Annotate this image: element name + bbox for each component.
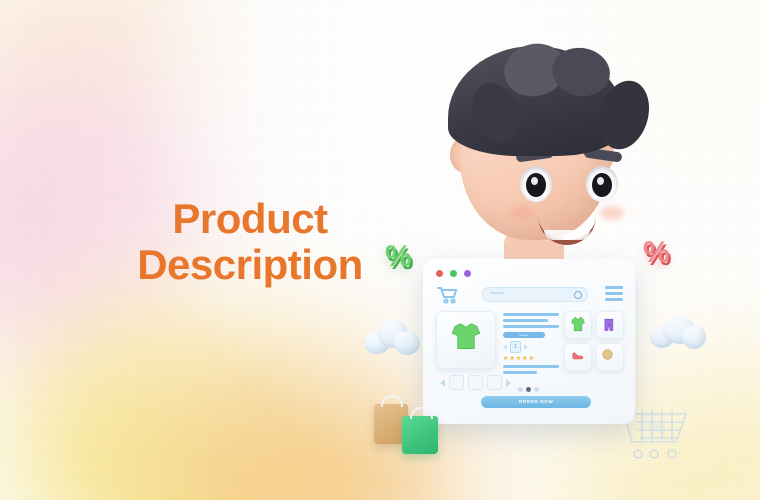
hamburger-menu-icon[interactable]	[605, 286, 623, 304]
star-icon: ★	[503, 356, 508, 362]
thumb-t-shirt[interactable]	[564, 311, 592, 339]
quantity-value: 1	[510, 341, 521, 353]
thumb-shoe[interactable]	[564, 343, 592, 371]
social-dot-icon[interactable]	[534, 387, 539, 392]
star-icon: ★	[522, 356, 527, 362]
text-line	[503, 313, 559, 316]
search-input[interactable]: Search	[482, 287, 588, 302]
cloud-puff	[394, 331, 420, 355]
page-title: Product Description	[100, 196, 400, 288]
burger-bar	[605, 298, 623, 301]
slide-canvas: Product Description % %	[0, 0, 760, 500]
burger-bar	[605, 286, 623, 289]
character-cheek-right	[600, 206, 624, 220]
social-dot-icon[interactable]	[518, 387, 523, 392]
page-title-line-1: Product	[100, 196, 400, 242]
social-share-icons[interactable]	[518, 387, 539, 392]
text-line	[503, 371, 537, 374]
quantity-stepper[interactable]: 1	[503, 341, 559, 353]
character-eye-left	[520, 166, 552, 202]
rating-stars: ★ ★ ★ ★ ★	[503, 356, 559, 362]
text-line	[503, 325, 559, 328]
product-thumbnail-strip[interactable]	[440, 375, 511, 390]
burger-bar	[605, 292, 623, 295]
search-placeholder: Search	[490, 290, 504, 295]
character-hair	[448, 46, 624, 156]
product-info-panel: Details 1 ★ ★ ★ ★ ★	[503, 313, 559, 377]
window-controls	[436, 270, 471, 277]
star-icon: ★	[529, 356, 534, 362]
percent-badge-pink: %	[643, 236, 670, 270]
shop-browser-window: Search Details 1	[423, 259, 635, 424]
related-products-grid	[564, 311, 624, 371]
order-now-button[interactable]: ORDER NOW	[481, 396, 591, 408]
quantity-decrease-icon[interactable]	[503, 344, 507, 350]
eye-glint	[597, 177, 604, 185]
chevron-left-icon[interactable]	[440, 379, 445, 387]
star-icon: ★	[509, 356, 514, 362]
thumb-pants[interactable]	[596, 311, 624, 339]
dot-red-icon[interactable]	[436, 270, 443, 277]
text-line	[503, 319, 548, 322]
dot-green-icon[interactable]	[450, 270, 457, 277]
cloud-left	[364, 320, 420, 356]
cart-percent-badge: %	[648, 417, 666, 439]
cloud-right	[650, 316, 706, 352]
shopping-bag-green	[402, 416, 438, 454]
character-teeth	[544, 230, 590, 240]
character-pupil	[592, 173, 612, 197]
character-cheek-left	[510, 206, 534, 220]
product-hero-image[interactable]	[436, 311, 496, 369]
quantity-increase-icon[interactable]	[524, 344, 528, 350]
chevron-right-icon[interactable]	[506, 379, 511, 387]
cloud-puff	[682, 325, 706, 349]
star-icon: ★	[516, 356, 521, 362]
eye-glint	[531, 177, 538, 185]
character-pupil	[526, 173, 546, 197]
dot-purple-icon[interactable]	[464, 270, 471, 277]
thumbnail-item[interactable]	[487, 375, 502, 390]
search-icon	[574, 291, 582, 299]
shopping-cart-icon[interactable]	[436, 285, 460, 305]
product-tag-button[interactable]: Details	[503, 332, 545, 338]
thumb-hat[interactable]	[596, 343, 624, 371]
page-title-line-2: Description	[100, 242, 400, 288]
thumbnail-item[interactable]	[468, 375, 483, 390]
text-line	[503, 365, 559, 368]
social-dot-icon[interactable]	[526, 387, 531, 392]
thumbnail-item[interactable]	[449, 375, 464, 390]
character-eye-right	[586, 166, 618, 202]
character-nose	[564, 200, 580, 212]
